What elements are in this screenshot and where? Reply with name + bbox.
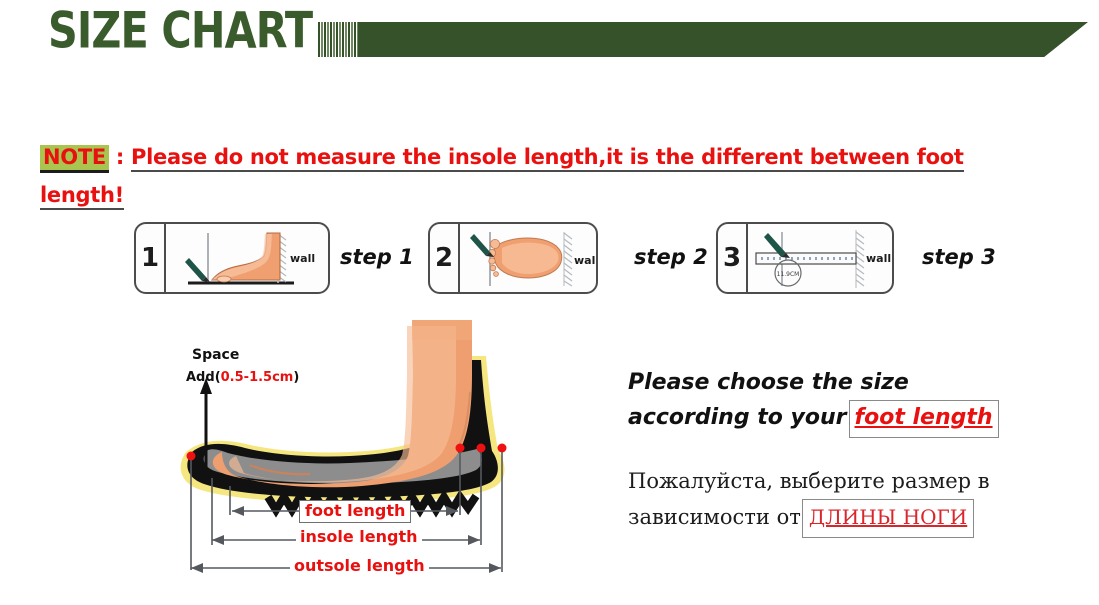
add-close-paren: ) bbox=[293, 370, 299, 385]
note-text-line-2: length! bbox=[40, 183, 124, 210]
step-caption-1: step 1 bbox=[340, 245, 414, 269]
instructions-english: Please choose the size according to your… bbox=[628, 366, 1078, 438]
add-text: Add bbox=[186, 370, 215, 385]
marker-dot-insole-heel bbox=[477, 444, 486, 453]
add-range-value: 0.5-1.5cm bbox=[221, 370, 294, 385]
measure-label-foot-length: foot length bbox=[299, 500, 411, 523]
step-3-illustration: 11.9CM wall bbox=[748, 224, 892, 292]
step-number-2: 2 bbox=[430, 224, 460, 292]
measure-label-outsole-length: outsole length bbox=[290, 557, 429, 575]
en-line-1: Please choose the size bbox=[628, 366, 1078, 400]
instructions-russian: Пожалуйста, выберите размер в зависимост… bbox=[628, 464, 1078, 538]
marker-dot-outsole-heel bbox=[498, 444, 507, 453]
step-number-1: 1 bbox=[136, 224, 166, 292]
en-line-2: according to yourfoot length bbox=[628, 400, 1078, 438]
step-1-illustration: wall bbox=[166, 224, 328, 292]
note-line-1: NOTE : Please do not measure the insole … bbox=[40, 140, 1040, 174]
step-panel-2: 2 wall bbox=[428, 222, 598, 294]
step-caption-3: step 3 bbox=[922, 245, 996, 269]
ru-line-2-text: зависимости от bbox=[628, 505, 801, 529]
page-title: SIZE CHART bbox=[48, 6, 312, 57]
note-badge: NOTE bbox=[40, 145, 109, 173]
header-banner-bar bbox=[358, 22, 1088, 57]
en-highlight-foot-length: foot length bbox=[849, 400, 999, 438]
ru-line-2: зависимости отДЛИНЫ НОГИ bbox=[628, 499, 1078, 538]
step-caption-2: step 2 bbox=[634, 245, 708, 269]
step-number-3: 3 bbox=[718, 224, 748, 292]
wall-label-3: wall bbox=[866, 252, 891, 265]
note-block: NOTE : Please do not measure the insole … bbox=[40, 140, 1040, 212]
note-text-line-1: Please do not measure the insole length,… bbox=[131, 145, 964, 172]
marker-dot-foot-heel bbox=[456, 444, 465, 453]
ruler-badge-text: 11.9CM bbox=[777, 271, 800, 278]
step-panel-3: 3 bbox=[716, 222, 894, 294]
wall-label-2: wall bbox=[574, 254, 598, 267]
marker-dot-outsole-toe bbox=[187, 452, 196, 461]
ru-highlight-foot-length: ДЛИНЫ НОГИ bbox=[802, 499, 974, 538]
measure-label-insole-length: insole length bbox=[296, 528, 422, 546]
note-line-2: length! bbox=[40, 178, 1040, 212]
barcode-stripes-icon bbox=[318, 22, 360, 57]
space-label: Space bbox=[192, 346, 239, 364]
wall-label-1: wall bbox=[290, 252, 315, 265]
page-header: SIZE CHART bbox=[0, 0, 1099, 78]
step-panel-1: 1 wall bbox=[134, 222, 330, 294]
foot-in-shoe-svg bbox=[150, 300, 550, 600]
en-line-2-text: according to your bbox=[628, 405, 847, 430]
add-label: Add(0.5-1.5cm) bbox=[186, 370, 299, 385]
note-separator: : bbox=[116, 145, 131, 169]
step-2-illustration: wall bbox=[460, 224, 596, 292]
foot-measurement-diagram bbox=[150, 300, 550, 600]
ru-line-1: Пожалуйста, выберите размер в bbox=[628, 464, 1078, 499]
